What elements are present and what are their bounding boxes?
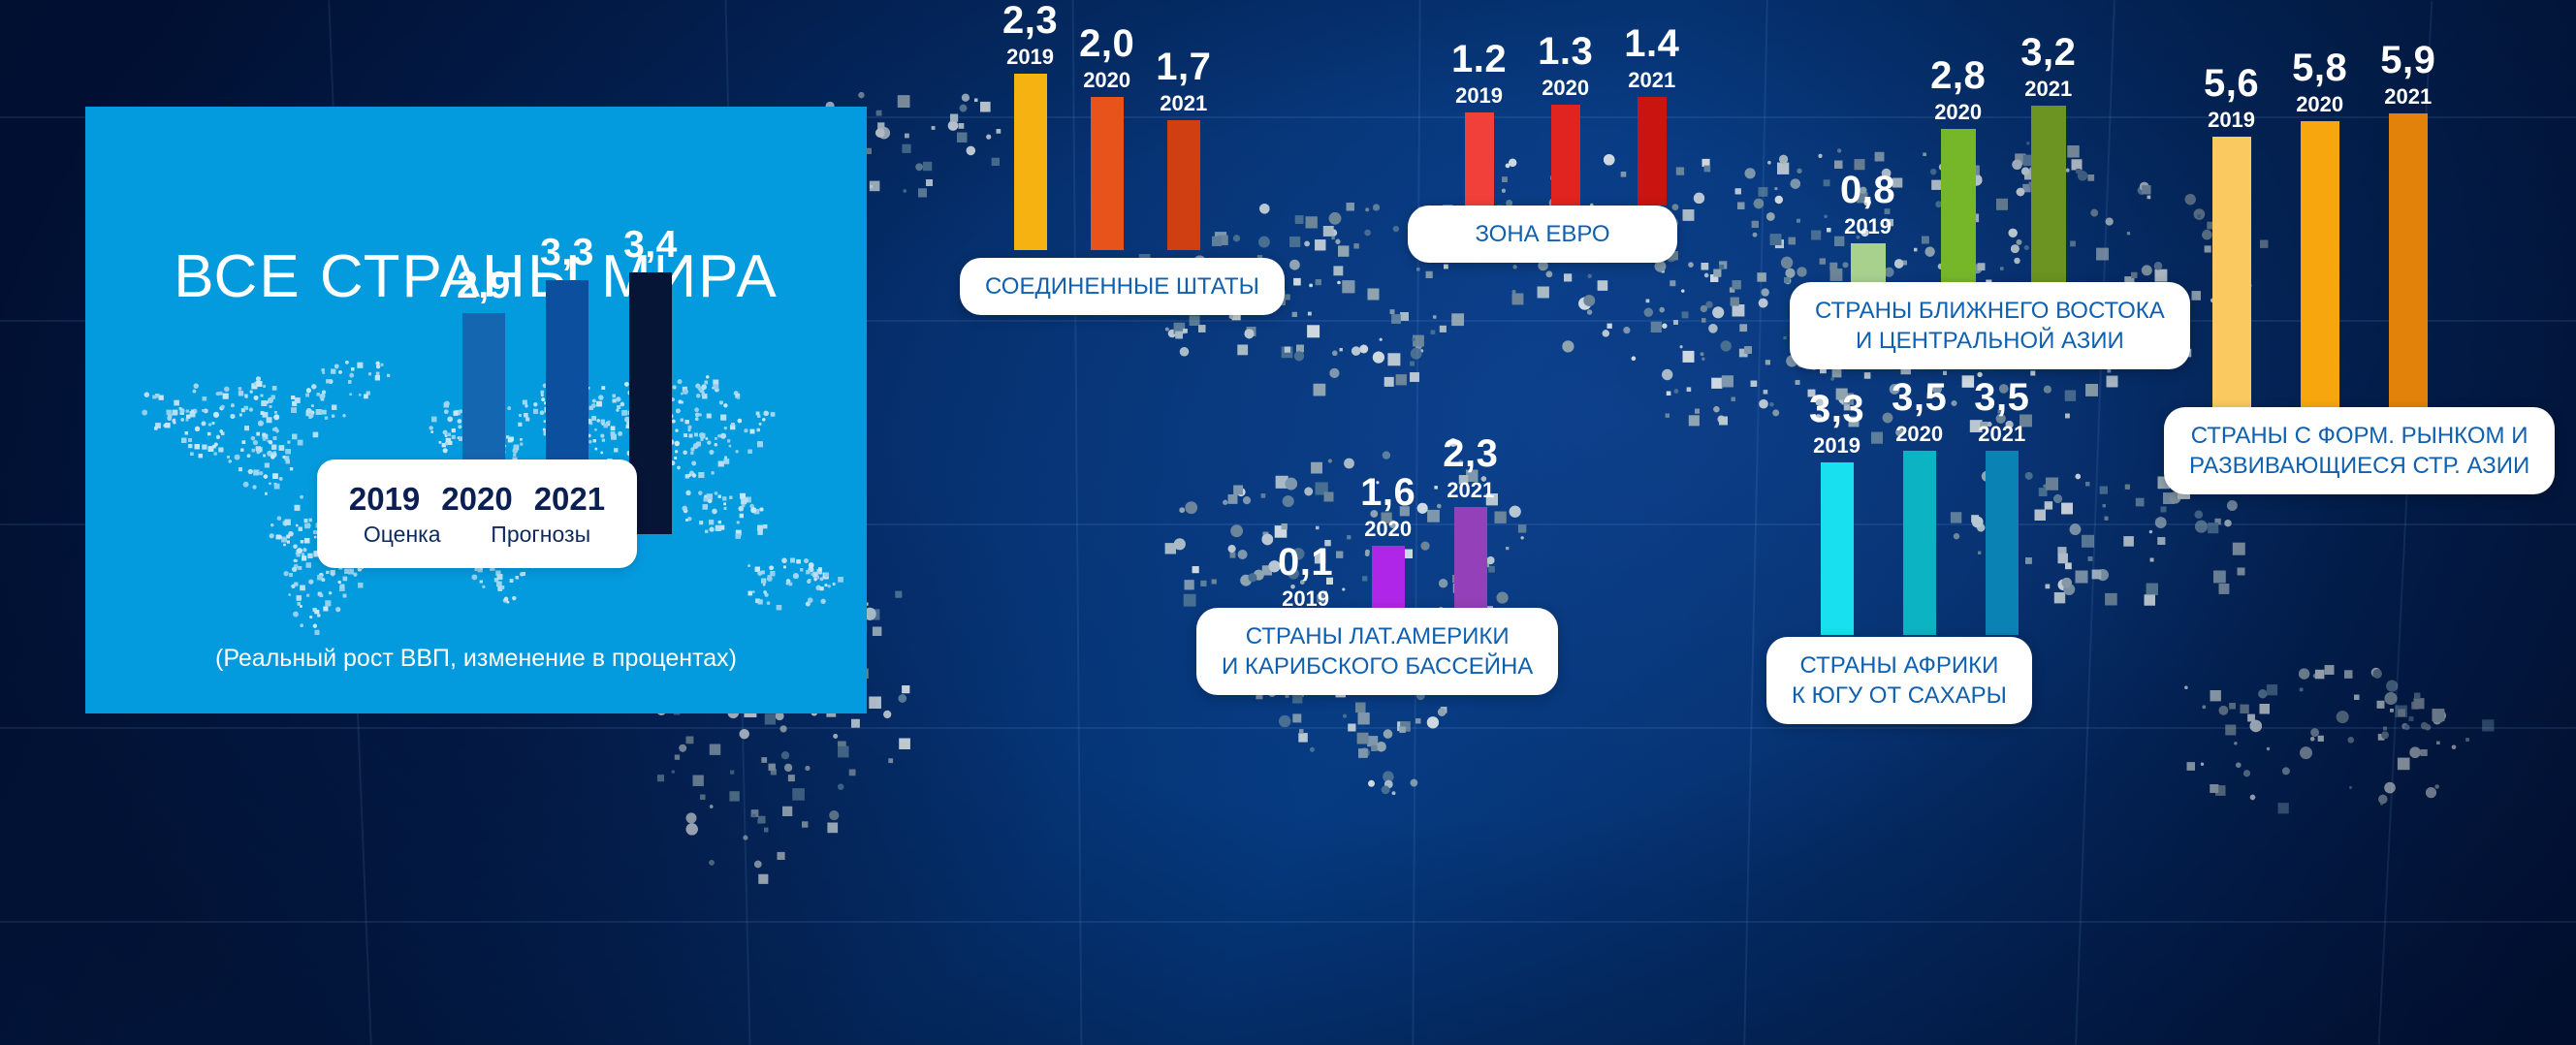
bar-column-emerging-developing-asia-2020: 5,82020 [2292,48,2347,429]
bar-value-middle-east-central-asia-2021: 3,2 [2020,33,2076,72]
bar-rect-united-states-2021 [1167,120,1200,250]
bar-value-euro-zone-2020: 1.3 [1538,32,1593,71]
card-sublabels-row: Оценка Прогнозы [317,522,637,548]
bar-year-united-states-2020: 2020 [1083,68,1130,93]
region-united-states: 2,320192,020201,72021 [1002,0,1144,250]
bar-rect-euro-zone-2020 [1551,105,1580,206]
bar-value-emerging-developing-asia-2020: 5,8 [2292,48,2347,87]
region-bars-emerging-developing-asia: 5,620195,820205,92021 [2204,41,2435,429]
bar-column-united-states-2020: 2,02020 [1079,24,1134,250]
bar-year-sub-saharan-africa-2019: 2019 [1813,433,1860,459]
region-label-line-latin-america-1: И КАРИБСКОГО БАССЕЙНА [1222,651,1533,681]
bar-year-middle-east-central-asia-2021: 2021 [2024,77,2072,102]
bar-value-united-states-2020: 2,0 [1079,24,1134,63]
bar-rect-euro-zone-2021 [1638,97,1667,206]
region-euro-zone: 1.220191.320201.42021 [1451,0,1601,206]
bar-rect-united-states-2020 [1091,97,1124,250]
bar-column-united-states-2019: 2,32019 [1002,1,1058,250]
region-emerging-developing-asia: 5,620195,820205,92021 [2204,0,2386,429]
bar-year-emerging-developing-asia-2021: 2021 [2384,84,2432,110]
region-label-line-latin-america-0: СТРАНЫ ЛАТ.АМЕРИКИ [1246,621,1510,651]
card-years-legend: 2019 2020 2021 Оценка Прогнозы [317,459,637,568]
bar-rect-sub-saharan-africa-2020 [1903,451,1936,635]
bar-rect-emerging-developing-asia-2019 [2212,137,2251,429]
region-latin-america: 0,120191,620202,32021 [1278,0,1431,625]
region-label-latin-america[interactable]: СТРАНЫ ЛАТ.АМЕРИКИИ КАРИБСКОГО БАССЕЙНА [1196,608,1558,695]
bar-year-euro-zone-2021: 2021 [1628,68,1675,93]
card-sublabel-forecast: Прогнозы [491,522,590,548]
bar-value-latin-america-2019: 0,1 [1278,543,1333,582]
region-label-middle-east-central-asia[interactable]: СТРАНЫ БЛИЖНЕГО ВОСТОКАИ ЦЕНТРАЛЬНОЙ АЗИ… [1790,282,2190,369]
bar-year-latin-america-2020: 2020 [1364,517,1412,542]
bar-value-emerging-developing-asia-2021: 5,9 [2380,41,2435,79]
card-year-2020: 2020 [441,481,512,518]
region-label-line-sub-saharan-africa-1: К ЮГУ ОТ САХАРЫ [1792,681,2007,711]
bar-value-sub-saharan-africa-2019: 3,3 [1809,390,1864,428]
bar-rect-emerging-developing-asia-2021 [2389,113,2428,429]
bar-value-emerging-developing-asia-2019: 5,6 [2204,64,2259,103]
bar-year-united-states-2021: 2021 [1160,91,1207,116]
bar-rect-united-states-2019 [1014,74,1047,250]
bar-year-latin-america-2021: 2021 [1447,478,1494,503]
world-summary-card: ВСЕ СТРАНЫ МИРА 2,93,33,4 2019 2020 2021… [85,107,867,713]
bar-value-united-states-2019: 2,3 [1002,1,1058,40]
card-bar-value-2020: 3,3 [540,232,594,274]
bar-column-latin-america-2020: 1,62020 [1360,473,1415,625]
bar-rect-sub-saharan-africa-2021 [1986,451,2019,635]
bar-value-euro-zone-2019: 1.2 [1451,40,1507,79]
bar-column-sub-saharan-africa-2020: 3,52020 [1892,378,1947,635]
bar-value-united-states-2021: 1,7 [1156,47,1211,86]
card-year-2019: 2019 [349,481,420,518]
region-label-line-middle-east-central-asia-1: И ЦЕНТРАЛЬНОЙ АЗИИ [1856,326,2124,356]
region-label-sub-saharan-africa[interactable]: СТРАНЫ АФРИКИК ЮГУ ОТ САХАРЫ [1766,637,2032,724]
bar-value-sub-saharan-africa-2021: 3,5 [1974,378,2029,417]
region-label-line-emerging-developing-asia-0: СТРАНЫ С ФОРМ. РЫНКОМ И [2191,421,2528,451]
bar-year-sub-saharan-africa-2020: 2020 [1895,422,1943,447]
bar-column-middle-east-central-asia-2021: 3,22021 [2020,33,2076,288]
bar-rect-euro-zone-2019 [1465,112,1494,206]
card-year-2021: 2021 [534,481,605,518]
bar-year-emerging-developing-asia-2019: 2019 [2208,108,2255,133]
region-label-emerging-developing-asia[interactable]: СТРАНЫ С ФОРМ. РЫНКОМ ИРАЗВИВАЮЩИЕСЯ СТР… [2164,407,2555,494]
bar-column-united-states-2021: 1,72021 [1156,47,1211,250]
region-label-line-united-states-0: СОЕДИНЕННЫЕ ШТАТЫ [985,271,1259,301]
region-label-line-euro-zone-0: ЗОНА ЕВРО [1475,219,1609,249]
card-years-row: 2019 2020 2021 [349,481,605,518]
bar-value-latin-america-2020: 1,6 [1360,473,1415,512]
bar-column-latin-america-2021: 2,32021 [1443,434,1498,625]
bar-rect-emerging-developing-asia-2020 [2301,121,2339,429]
bar-column-euro-zone-2020: 1.32020 [1538,32,1593,206]
region-label-line-sub-saharan-africa-0: СТРАНЫ АФРИКИ [1800,650,1999,681]
card-bar-value-2021: 3,4 [623,224,678,267]
bar-value-latin-america-2021: 2,3 [1443,434,1498,473]
bar-column-emerging-developing-asia-2019: 5,62019 [2204,64,2259,429]
bar-value-sub-saharan-africa-2020: 3,5 [1892,378,1947,417]
bar-column-emerging-developing-asia-2021: 5,92021 [2380,41,2435,429]
card-bar-value-2019: 2,9 [457,265,511,307]
region-bars-sub-saharan-africa: 3,320193,520203,52021 [1809,378,2029,635]
bar-year-euro-zone-2019: 2019 [1455,83,1503,109]
region-label-euro-zone[interactable]: ЗОНА ЕВРО [1408,206,1677,263]
region-bars-euro-zone: 1.220191.320201.42021 [1451,24,1679,206]
region-bars-latin-america: 0,120191,620202,32021 [1278,434,1498,625]
bar-column-euro-zone-2019: 1.22019 [1451,40,1507,206]
region-label-united-states[interactable]: СОЕДИНЕННЫЕ ШТАТЫ [960,258,1285,315]
bar-column-sub-saharan-africa-2021: 3,52021 [1974,378,2029,635]
card-footnote: (Реальный рост ВВП, изменение в процента… [85,645,867,673]
grid-parallel-3 [0,727,2576,729]
bar-column-sub-saharan-africa-2019: 3,32019 [1809,390,1864,635]
bar-column-euro-zone-2021: 1.42021 [1624,24,1679,206]
card-sublabel-estimate: Оценка [364,522,441,548]
grid-parallel-4 [0,921,2576,923]
bar-rect-sub-saharan-africa-2019 [1821,462,1854,635]
bar-rect-middle-east-central-asia-2021 [2031,106,2066,288]
region-bars-united-states: 2,320192,020201,72021 [1002,1,1211,250]
region-label-line-middle-east-central-asia-0: СТРАНЫ БЛИЖНЕГО ВОСТОКА [1815,296,2165,326]
bar-year-emerging-developing-asia-2020: 2020 [2296,92,2343,117]
region-label-line-emerging-developing-asia-1: РАЗВИВАЮЩИЕСЯ СТР. АЗИИ [2189,451,2529,481]
bar-year-euro-zone-2020: 2020 [1542,76,1589,101]
bar-value-euro-zone-2021: 1.4 [1624,24,1679,63]
bar-year-sub-saharan-africa-2021: 2021 [1978,422,2025,447]
bar-year-united-states-2019: 2019 [1006,45,1054,70]
